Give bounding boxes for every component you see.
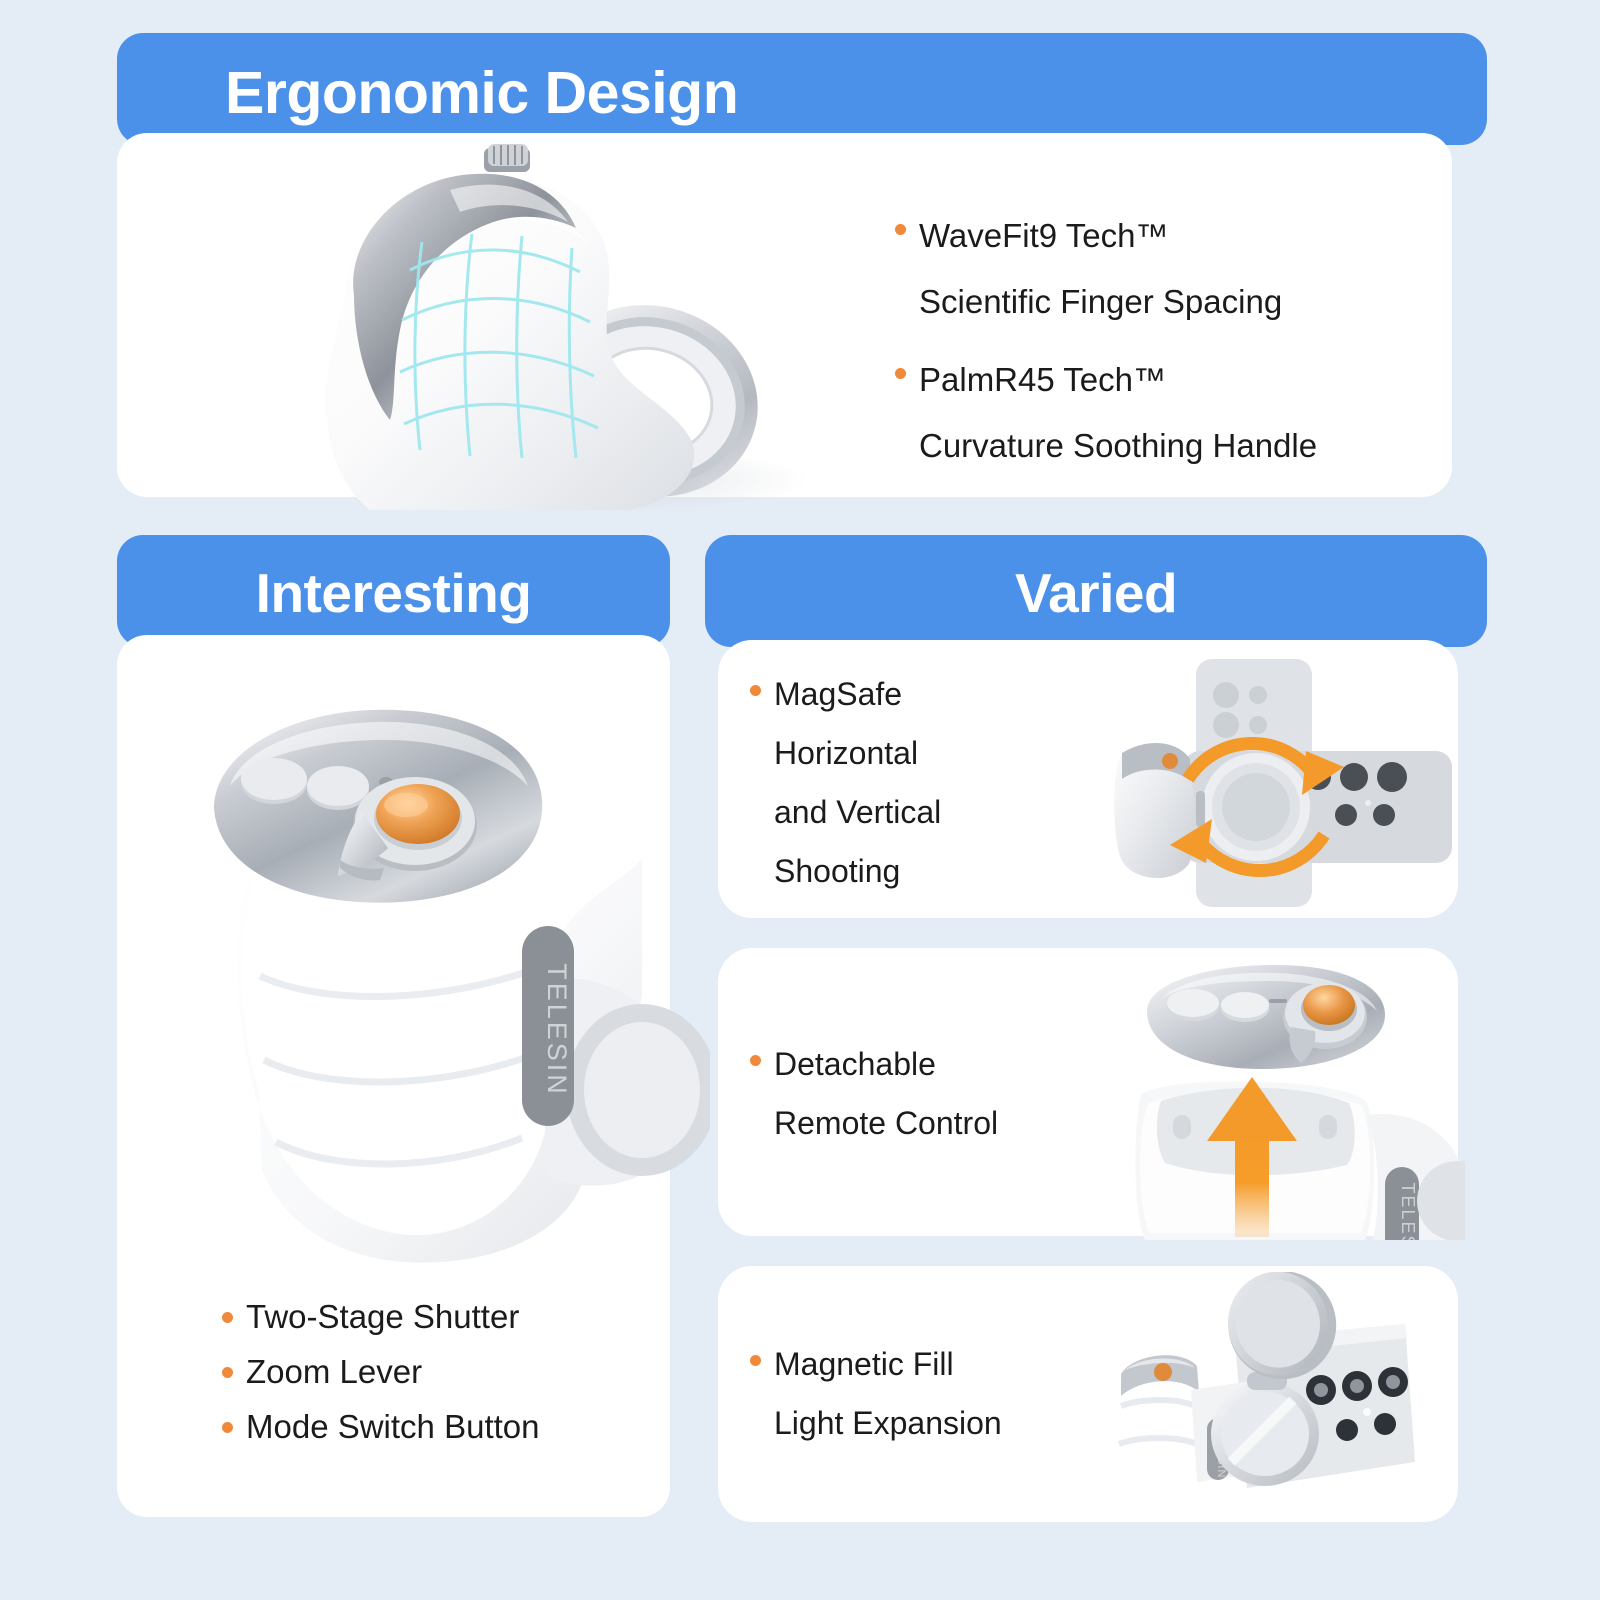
bullet-sub: Curvature Soothing Handle: [895, 415, 1455, 477]
bullet-dot-icon: [222, 1422, 233, 1433]
bullet-group: WaveFit9 Tech™ Scientific Finger Spacing: [895, 205, 1455, 333]
card-header-varied: Varied: [705, 535, 1487, 647]
list-item: Zoom Lever: [222, 1352, 682, 1392]
text-detachable-remote: Detachable Remote Control: [750, 1035, 1050, 1153]
card-header-interesting: Interesting: [117, 535, 670, 647]
product-image-magsafe-rotation: [1078, 645, 1468, 917]
list-item: Detachable Remote Control: [750, 1035, 1050, 1153]
bullet-label: Mode Switch Button: [246, 1407, 540, 1447]
bullet-list-ergonomic: WaveFit9 Tech™ Scientific Finger Spacing…: [895, 205, 1455, 493]
text-magsafe-rotation: MagSafe Horizontal and Vertical Shooting: [750, 665, 1020, 901]
bullet-list-interesting: Two-Stage Shutter Zoom Lever Mode Switch…: [222, 1297, 682, 1462]
line-3: and Vertical: [774, 794, 941, 830]
line-1: Detachable: [774, 1046, 936, 1082]
product-image-detachable-remote: TELESIN: [1085, 955, 1465, 1240]
bullet-dot-icon: [222, 1367, 233, 1378]
product-image-ergonomic-grip: [250, 120, 870, 510]
brand-label: TELESIN: [542, 963, 572, 1097]
bullet-sub: Scientific Finger Spacing: [895, 271, 1455, 333]
card-title-ergonomic-design: Ergonomic Design: [225, 59, 738, 127]
product-image-magnetic-fill-light: TELESIN: [1085, 1272, 1465, 1522]
subcard-label: Detachable Remote Control: [774, 1035, 998, 1153]
line-1: MagSafe: [774, 676, 902, 712]
bullet-head: PalmR45 Tech™: [919, 349, 1166, 411]
list-item: Mode Switch Button: [222, 1407, 682, 1447]
line-2: Horizontal: [774, 735, 918, 771]
line-2: Light Expansion: [774, 1405, 1002, 1441]
card-title-interesting: Interesting: [117, 561, 670, 625]
bullet-label: Two-Stage Shutter: [246, 1297, 519, 1337]
bullet-group: PalmR45 Tech™ Curvature Soothing Handle: [895, 349, 1455, 477]
line-1: Magnetic Fill: [774, 1346, 954, 1382]
bullet-label: Zoom Lever: [246, 1352, 422, 1392]
subcard-label: MagSafe Horizontal and Vertical Shooting: [774, 665, 941, 901]
line-4: Shooting: [774, 853, 900, 889]
bullet-head: WaveFit9 Tech™: [919, 205, 1168, 267]
line-2: Remote Control: [774, 1105, 998, 1141]
product-image-grip-controls: TELESIN: [190, 690, 710, 1270]
bullet-dot-icon: [750, 1355, 761, 1366]
bullet-dot-icon: [750, 1055, 761, 1066]
bullet-dot-icon: [895, 368, 906, 379]
list-item: MagSafe Horizontal and Vertical Shooting: [750, 665, 1020, 901]
infographic-page: Ergonomic Design: [0, 0, 1600, 1600]
bullet-dot-icon: [222, 1312, 233, 1323]
brand-label: TELESIN: [1398, 1182, 1418, 1240]
text-magnetic-fill-light: Magnetic Fill Light Expansion: [750, 1335, 1050, 1453]
list-item: Two-Stage Shutter: [222, 1297, 682, 1337]
card-title-varied: Varied: [705, 561, 1487, 625]
bullet-dot-icon: [750, 685, 761, 696]
list-item: PalmR45 Tech™: [895, 349, 1455, 411]
list-item: Magnetic Fill Light Expansion: [750, 1335, 1050, 1453]
subcard-label: Magnetic Fill Light Expansion: [774, 1335, 1002, 1453]
bullet-dot-icon: [895, 224, 906, 235]
list-item: WaveFit9 Tech™: [895, 205, 1455, 267]
